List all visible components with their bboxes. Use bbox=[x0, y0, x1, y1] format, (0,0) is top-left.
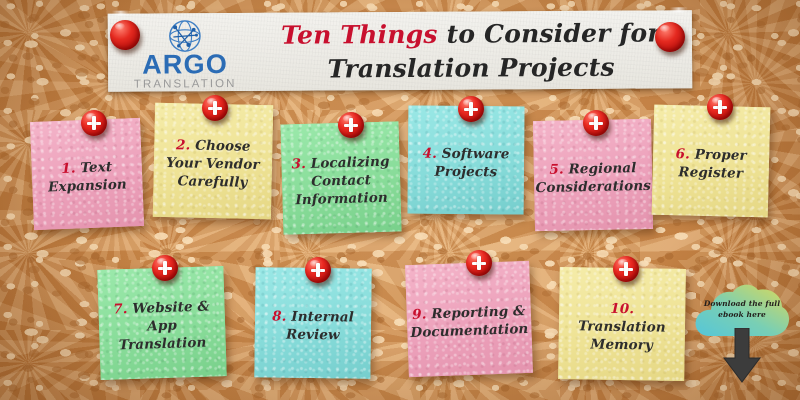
pushpin-note-3 bbox=[338, 112, 364, 138]
sticky-note-2-text: 2. Choose Your Vendor Carefully bbox=[160, 136, 265, 192]
sticky-note-2-number: 2. bbox=[176, 137, 191, 153]
sticky-note-7-label: Website & App Translation bbox=[119, 298, 210, 353]
pushpin-note-4 bbox=[458, 96, 484, 122]
pushpin-cross-icon bbox=[624, 262, 627, 276]
title-line-1: Ten Things to Consider for bbox=[260, 16, 682, 52]
pushpin-note-5 bbox=[583, 110, 609, 136]
pushpin-cross-icon bbox=[594, 116, 597, 130]
sticky-note-9-number: 9. bbox=[412, 306, 427, 322]
sticky-note-6-number: 6. bbox=[675, 146, 690, 162]
sticky-note-3-number: 3. bbox=[291, 156, 306, 172]
title-rest: to Consider for bbox=[438, 18, 661, 48]
cta-text: Download the full ebook here bbox=[696, 298, 788, 321]
sticky-note-3[interactable]: 3. Localizing Contact Information bbox=[280, 121, 401, 234]
sticky-note-9[interactable]: 9. Reporting & Documentation bbox=[405, 261, 533, 377]
sticky-note-1-label: Text Expansion bbox=[48, 159, 127, 196]
sticky-note-10[interactable]: 10. Translation Memory bbox=[558, 267, 686, 381]
sticky-note-7[interactable]: 7. Website & App Translation bbox=[97, 266, 226, 380]
pushpin-banner-right bbox=[655, 22, 685, 52]
sticky-note-8-number: 8. bbox=[272, 308, 286, 324]
pushpin-cross-icon bbox=[163, 261, 166, 275]
pushpin-note-7 bbox=[152, 255, 178, 281]
pushpin-note-9 bbox=[466, 250, 492, 276]
pushpin-gloss bbox=[660, 25, 670, 32]
pushpin-note-2 bbox=[202, 95, 228, 121]
sticky-note-9-text: 9. Reporting & Documentation bbox=[410, 302, 529, 342]
sticky-note-6-text: 6. Proper Register bbox=[660, 145, 763, 184]
sticky-note-3-label: Localizing Contact Information bbox=[295, 154, 390, 209]
sticky-note-9-label: Reporting & Documentation bbox=[410, 303, 528, 341]
sticky-note-4-label: Software Projects bbox=[435, 146, 510, 181]
sticky-note-7-text: 7. Website & App Translation bbox=[105, 297, 219, 355]
pushpin-cross-icon bbox=[349, 118, 352, 132]
sticky-note-8-text: 8. Internal Review bbox=[262, 307, 364, 344]
pushpin-note-1 bbox=[81, 110, 107, 136]
sticky-note-7-number: 7. bbox=[113, 301, 128, 317]
sticky-note-1-text: 1. Text Expansion bbox=[38, 157, 135, 197]
sticky-note-8-label: Internal Review bbox=[286, 309, 354, 344]
title-line-2: Translation Projects bbox=[260, 50, 682, 86]
pushpin-cross-icon bbox=[477, 256, 480, 270]
logo-brand-text: ARGO bbox=[142, 51, 228, 79]
pushpin-note-6 bbox=[707, 94, 733, 120]
pushpin-cross-icon bbox=[316, 263, 319, 277]
pushpin-cross-icon bbox=[213, 101, 216, 115]
header-banner: ARGO TRANSLATION Ten Things to Consider … bbox=[108, 10, 692, 92]
pushpin-note-10 bbox=[613, 256, 639, 282]
pushpin-cross-icon bbox=[718, 100, 721, 114]
sticky-note-1-number: 1. bbox=[61, 160, 76, 177]
logo-tagline-text: TRANSLATION bbox=[134, 78, 237, 90]
pushpin-banner-left bbox=[110, 20, 140, 50]
sticky-note-10-label: Translation Memory bbox=[578, 318, 666, 353]
sticky-note-8[interactable]: 8. Internal Review bbox=[254, 267, 371, 378]
title-highlight: Ten Things bbox=[281, 20, 438, 50]
sticky-note-5-number: 5. bbox=[549, 161, 564, 177]
download-arrow-icon[interactable] bbox=[722, 328, 762, 384]
cta-line-2: ebook here bbox=[696, 309, 788, 320]
sticky-note-4-number: 4. bbox=[423, 146, 437, 162]
sticky-note-4-text: 4. Software Projects bbox=[415, 144, 517, 181]
sticky-note-10-number: 10. bbox=[610, 301, 634, 317]
page-title: Ten Things to Consider for Translation P… bbox=[260, 16, 682, 86]
pushpin-cross-icon bbox=[469, 102, 472, 116]
cork-board: ARGO TRANSLATION Ten Things to Consider … bbox=[0, 0, 800, 400]
sticky-note-3-text: 3. Localizing Contact Information bbox=[288, 152, 393, 209]
download-ebook-cta[interactable]: Download the full ebook here bbox=[692, 278, 792, 388]
sticky-note-5-text: 5. Regional Considerations bbox=[535, 159, 651, 197]
pushpin-note-8 bbox=[305, 257, 331, 283]
cta-line-1: Download the full bbox=[696, 298, 788, 309]
pushpin-gloss bbox=[115, 23, 125, 30]
pushpin-cross-icon bbox=[92, 116, 95, 130]
sticky-note-10-text: 10. Translation Memory bbox=[566, 299, 679, 355]
sticky-note-6[interactable]: 6. Proper Register bbox=[652, 105, 771, 218]
